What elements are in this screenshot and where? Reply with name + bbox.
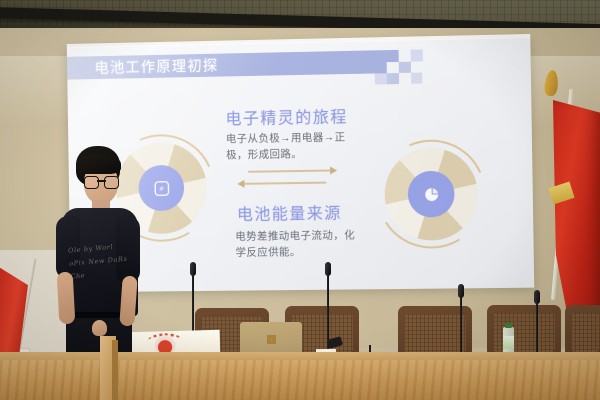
- chair-mesh: [571, 313, 599, 352]
- donut-chart-right: [384, 147, 479, 241]
- presenter-hair-fringe: [76, 154, 121, 174]
- chair-mesh: [404, 314, 466, 353]
- pixel-block-5: [411, 73, 422, 84]
- presenter-hand-left: [92, 320, 107, 336]
- slide-heading-1: 电子精灵的旅程: [225, 103, 348, 129]
- pixel-block-1: [386, 50, 398, 62]
- four-square-logo-icon: [267, 335, 276, 344]
- arrow-left-icon: [238, 182, 326, 185]
- bottle-label: [503, 336, 514, 349]
- presentation-room-scene: 电池工作原理初探: [0, 0, 600, 400]
- chair: [487, 305, 561, 355]
- microphone-stem: [536, 300, 538, 354]
- arrow-right-icon: [248, 169, 336, 172]
- lectern-post: [112, 340, 118, 400]
- glasses-icon: [84, 176, 119, 187]
- chair: [565, 305, 600, 355]
- bottle-cap: [505, 323, 512, 328]
- presenter-arm-left: [57, 272, 76, 325]
- pixel-block-3: [411, 49, 423, 61]
- pixel-block-4: [387, 73, 399, 84]
- presenter-arm-right: [119, 276, 137, 327]
- pixel-block-2: [399, 62, 411, 73]
- pixel-block-6: [375, 73, 387, 84]
- slide-body-1: 电子从负极→用电器→正极，形成回路。: [226, 129, 356, 163]
- microphone-stem: [460, 294, 462, 354]
- slide-title: 电池工作原理初探: [94, 55, 218, 78]
- pen-edit-icon: [153, 179, 170, 196]
- slide-heading-2: 电池能量来源: [237, 199, 342, 224]
- slide-body-2: 电势差推动电子流动，化学反应供能。: [235, 227, 365, 261]
- pie-chart-icon: [422, 185, 439, 202]
- desk-front-panel: [0, 360, 600, 400]
- laptop[interactable]: [240, 322, 302, 356]
